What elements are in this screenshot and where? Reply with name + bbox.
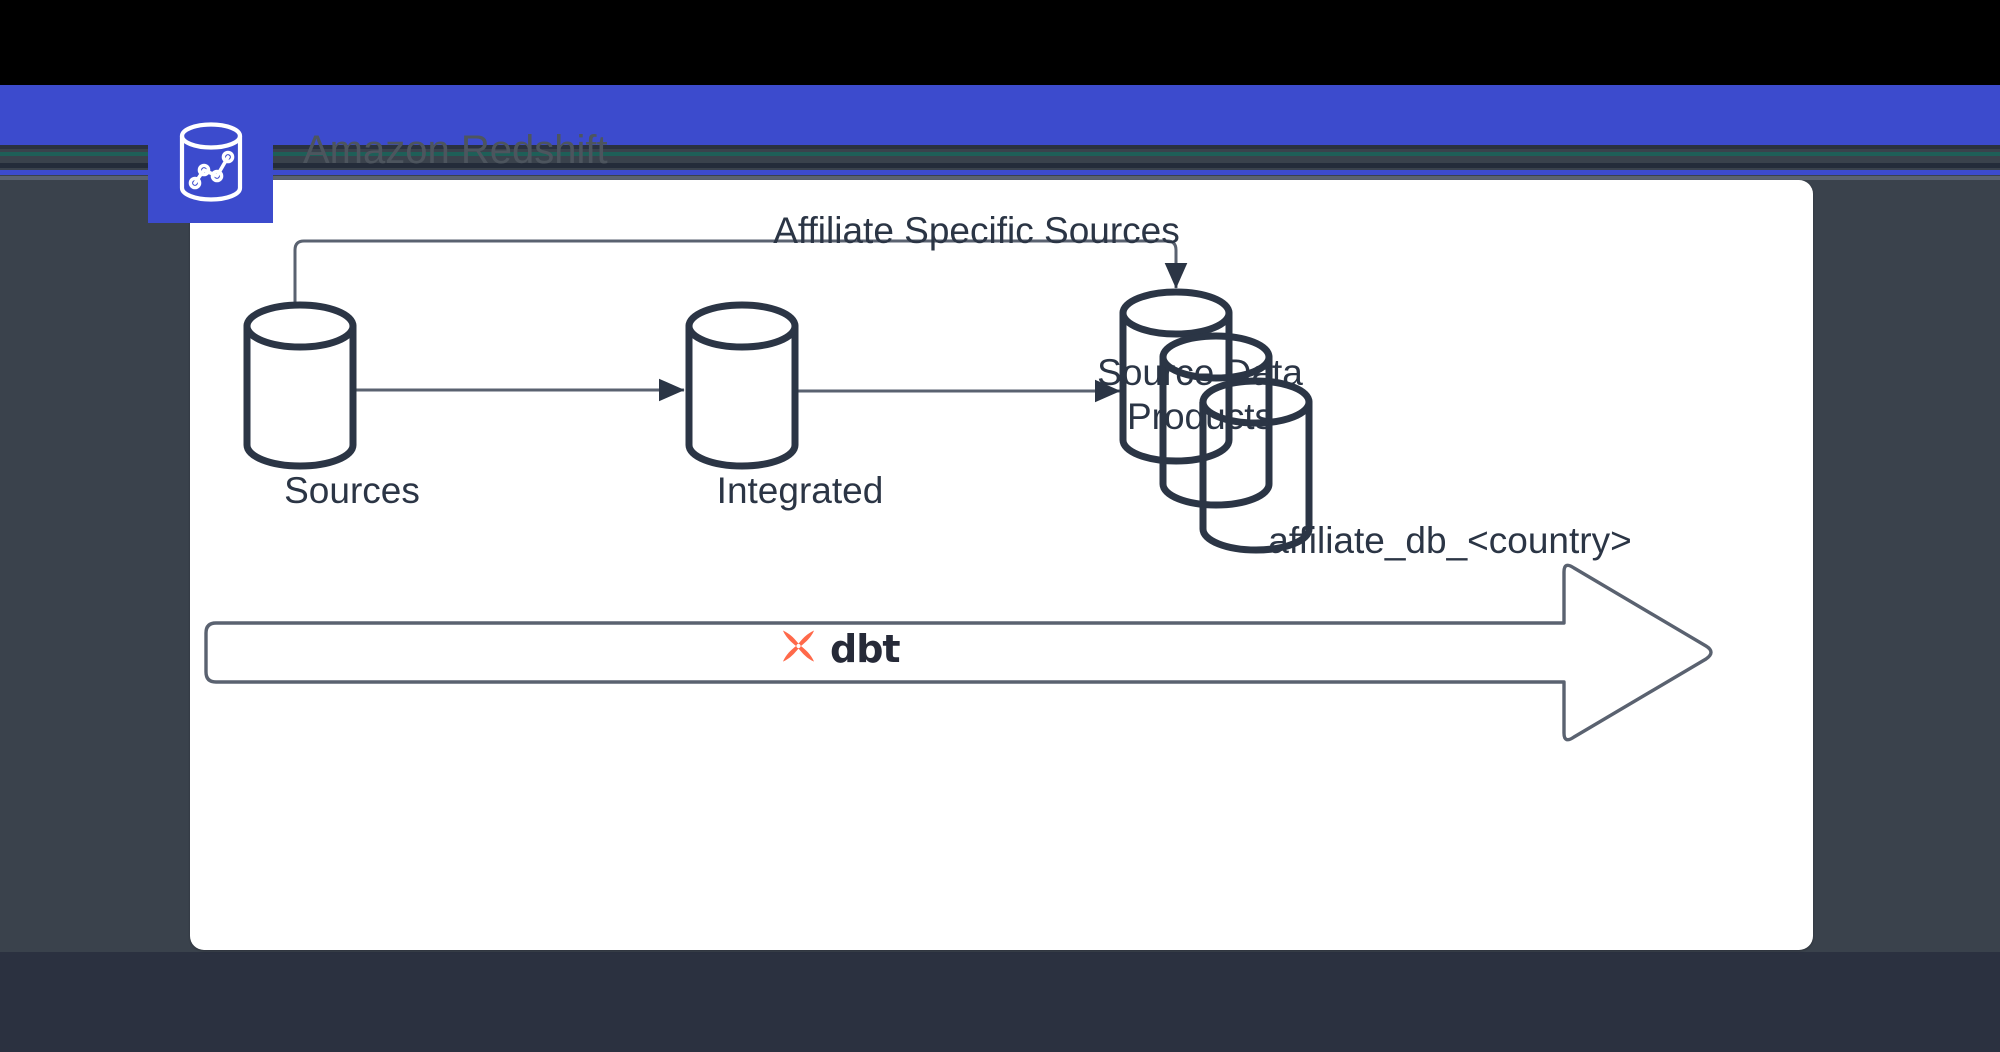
page-background-bottom <box>0 952 2000 1052</box>
decorative-stripe-1 <box>0 145 2000 149</box>
process-arrow-dbt <box>206 565 1711 739</box>
node-label-integrated: Integrated <box>630 470 970 511</box>
dbt-x-icon <box>778 628 819 669</box>
decorative-stripe-3 <box>0 163 2000 168</box>
page-title: Amazon Redshift <box>303 128 608 173</box>
node-sources-cylinder <box>247 305 353 466</box>
node-label-sources: Sources <box>232 470 472 511</box>
screenshot-canvas: Amazon Redshift <box>0 0 2000 1052</box>
accent-band-top <box>0 85 2000 145</box>
node-integrated-cylinder <box>689 305 795 466</box>
decorative-stripe-4 <box>0 170 2000 175</box>
architecture-diagram <box>190 180 1813 950</box>
diagram-card: Affiliate Specific Sources Sources Integ… <box>190 180 1813 950</box>
dbt-wordmark: dbt <box>830 630 900 668</box>
edge-label-products: Products <box>1010 396 1390 437</box>
redshift-database-chart-icon <box>176 120 246 204</box>
amazon-redshift-chip <box>148 101 273 223</box>
dbt-logo: dbt <box>778 628 900 669</box>
decorative-stripe-2 <box>0 152 2000 156</box>
edge-label-affiliate-specific-sources: Affiliate Specific Sources <box>165 210 1788 251</box>
node-label-affiliate-db: affiliate_db_<country> <box>1150 520 1750 561</box>
edge-label-source-data: Source Data <box>1010 352 1390 393</box>
